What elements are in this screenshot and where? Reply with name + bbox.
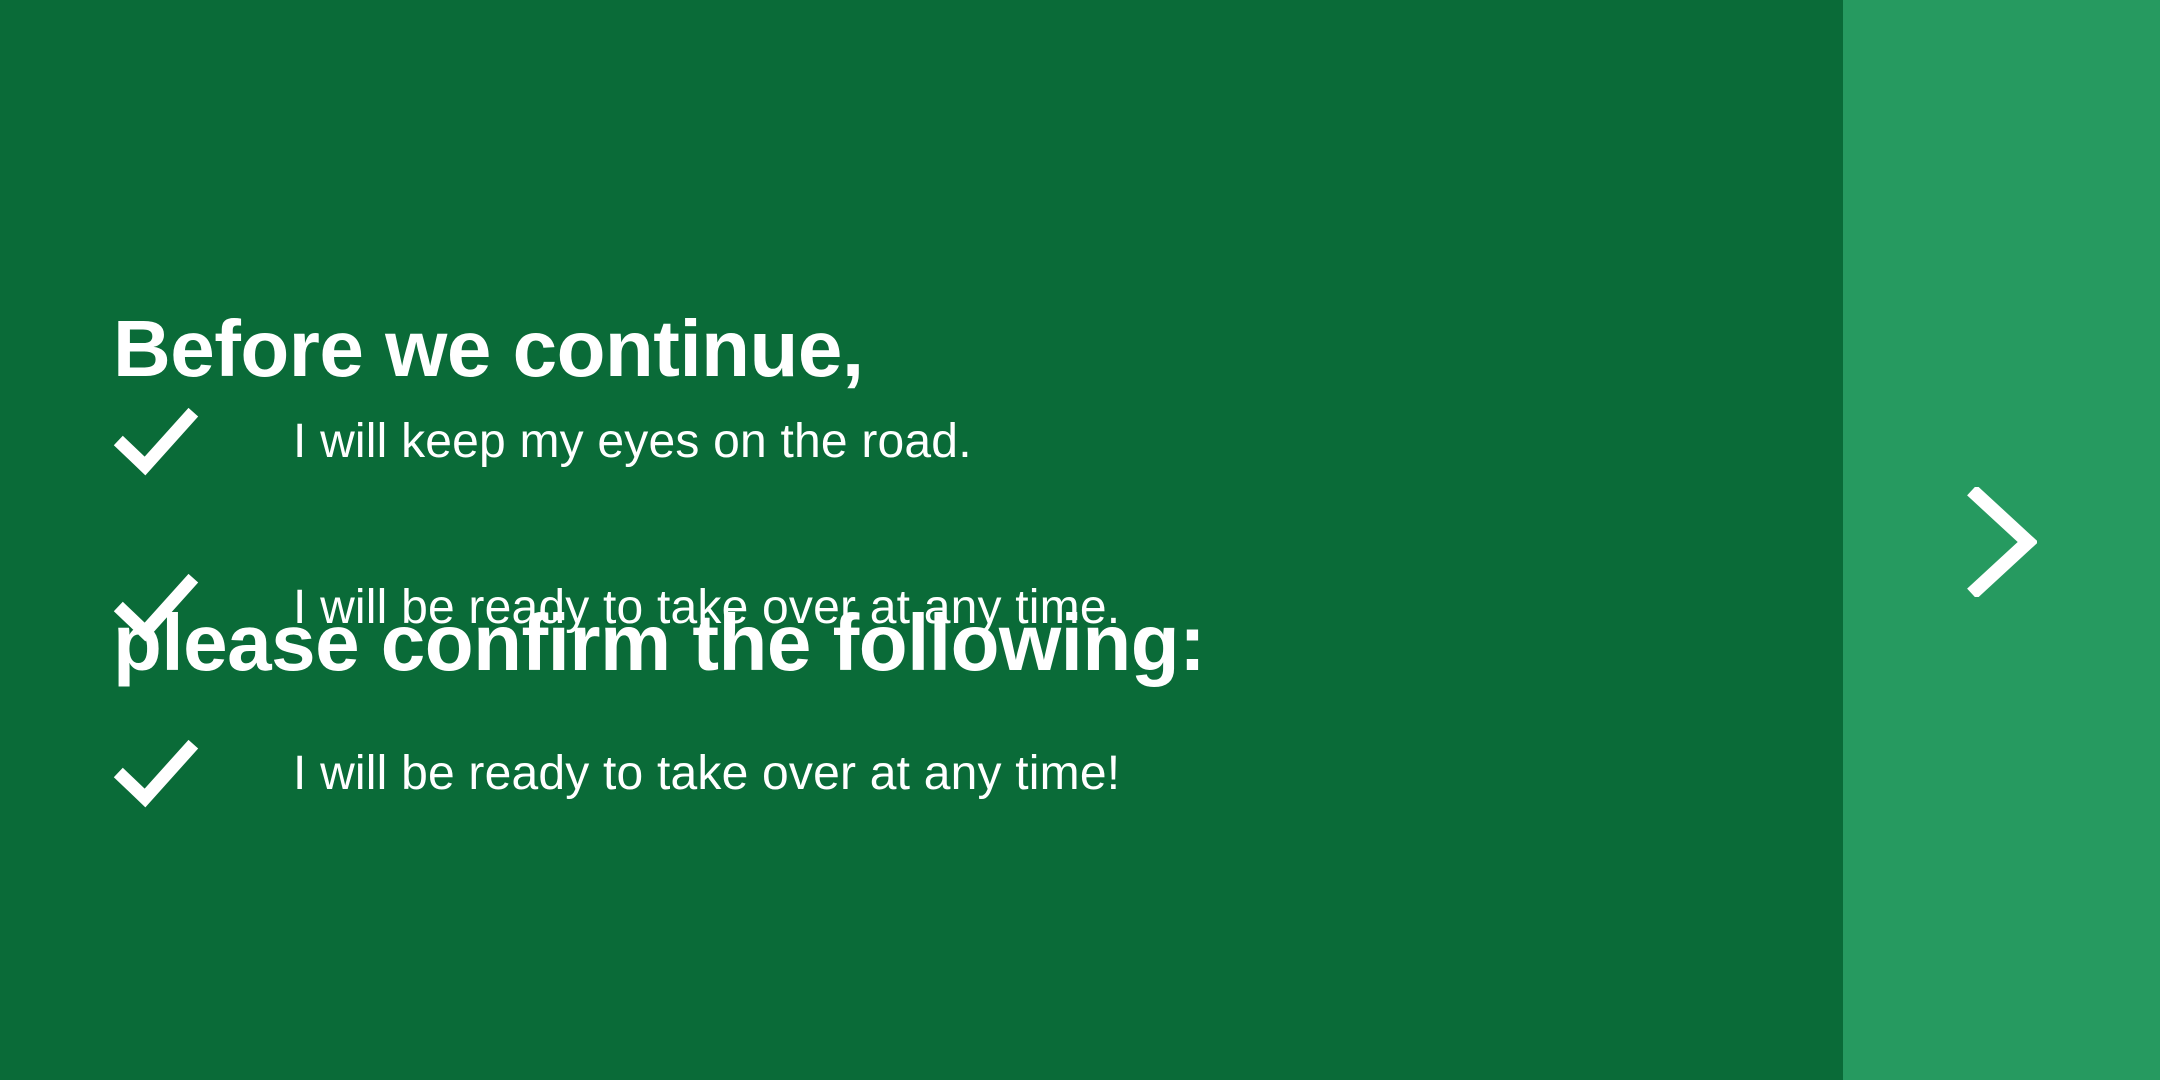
checklist-item-label: I will keep my eyes on the road. [293,413,972,471]
next-button[interactable] [1843,0,2160,1080]
checklist-item[interactable]: I will be ready to take over at any time… [113,564,1713,652]
check-icon [113,399,199,485]
page-title-line-1: Before we continue, [113,300,1205,398]
confirmation-screen: Before we continue, please confirm the f… [0,0,2160,1080]
checklist-item[interactable]: I will be ready to take over at any time… [113,730,1713,818]
checklist-item-label: I will be ready to take over at any time… [293,579,1120,637]
confirmation-checklist: I will keep my eyes on the road. I will … [113,398,1713,818]
check-icon [113,565,199,651]
chevron-right-icon[interactable] [1843,487,2160,597]
check-icon [113,731,199,817]
content-panel: Before we continue, please confirm the f… [0,0,1843,1080]
checklist-item[interactable]: I will keep my eyes on the road. [113,398,1713,486]
checklist-item-label: I will be ready to take over at any time… [293,745,1120,803]
